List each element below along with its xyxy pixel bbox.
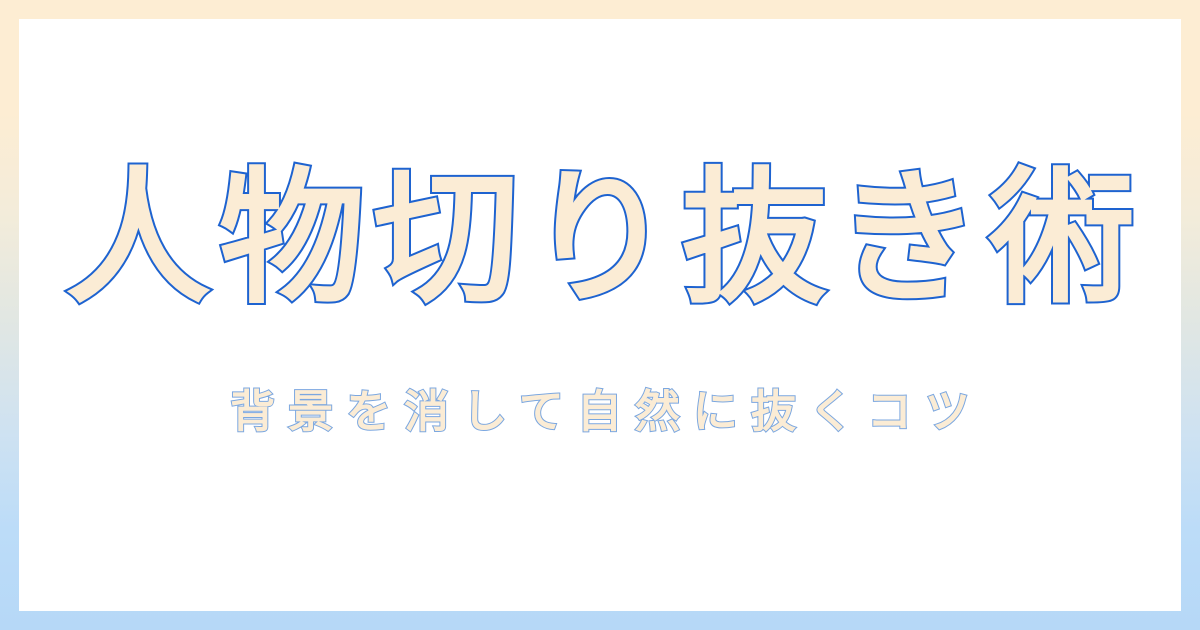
page-title: 人物切り抜き術 xyxy=(57,166,1143,312)
subtitle-container: 背景を消して自然に抜くコツ xyxy=(19,373,1181,449)
poster-frame: 人物切り抜き術 背景を消して自然に抜くコツ xyxy=(0,0,1200,630)
poster-card: 人物切り抜き術 背景を消して自然に抜くコツ xyxy=(19,19,1181,611)
title-container: 人物切り抜き術 xyxy=(19,153,1181,325)
page-subtitle: 背景を消して自然に抜くコツ xyxy=(217,389,983,434)
